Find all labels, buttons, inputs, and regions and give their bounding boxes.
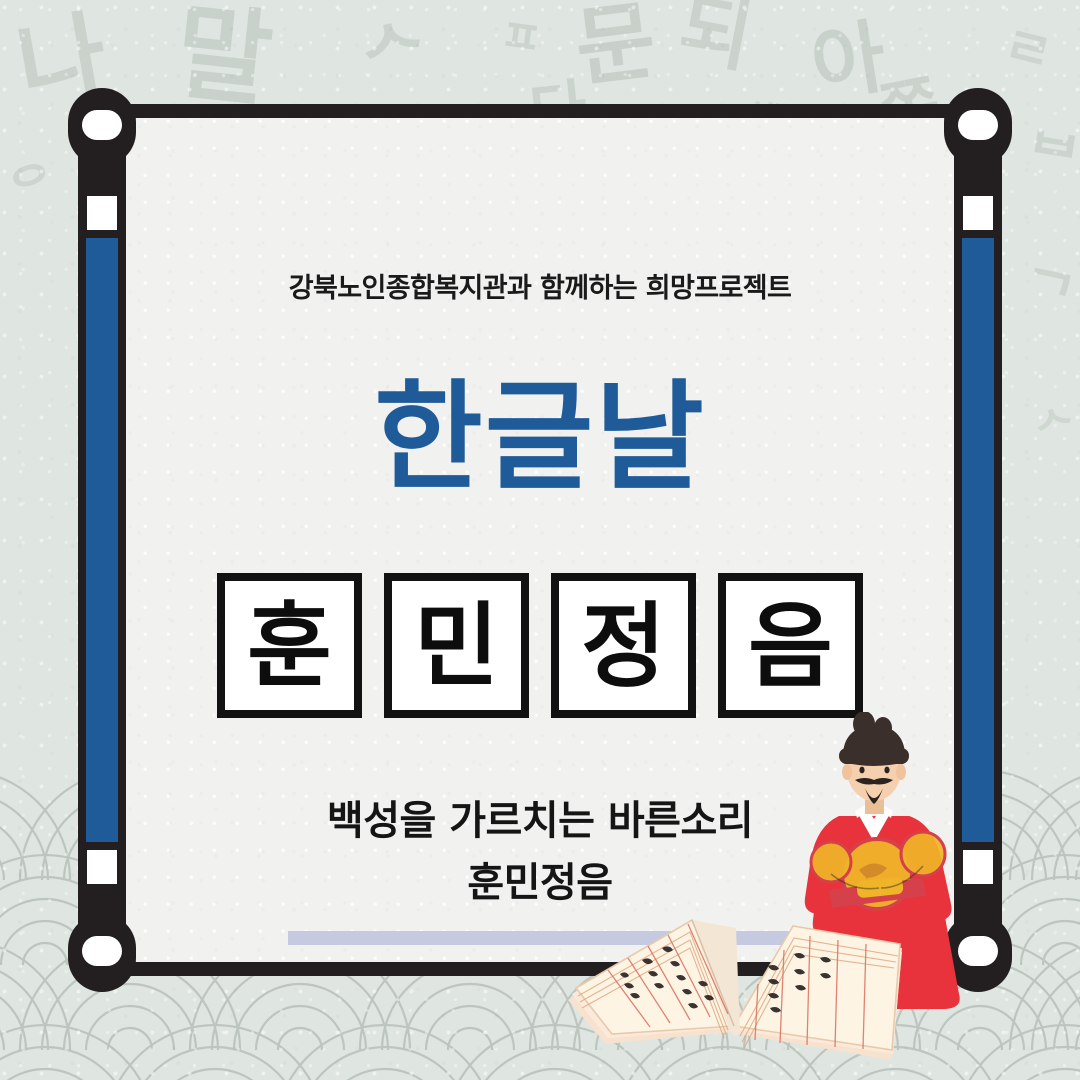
frame-rail-top <box>102 104 978 118</box>
background-glyph: ㅍ <box>497 11 545 62</box>
background-glyph: ㄹ <box>998 19 1057 81</box>
caption-line-1: 백성을 가르치는 바른소리 <box>327 798 753 844</box>
open-book-icon <box>562 892 907 1080</box>
boxed-characters: 훈민정음 <box>102 573 978 718</box>
background-glyph: 되 <box>673 0 758 78</box>
char-box-glyph: 훈 <box>247 600 332 692</box>
char-box-1: 훈 <box>217 573 362 718</box>
background-glyph: ᄉ <box>1031 403 1080 456</box>
char-box-glyph: 음 <box>748 600 833 692</box>
background-glyph: 문 <box>571 0 660 93</box>
char-box-2: 민 <box>384 573 529 718</box>
char-box-glyph: 민 <box>414 600 499 692</box>
background-glyph: ᄉ <box>354 13 436 99</box>
hangul-day-poster: 나말ᄉㅍ문되아ㄹ다세쫒ᄇᄋᄀᄉ <box>0 0 1080 1080</box>
page-title: 한글날 <box>102 373 978 503</box>
char-box-3: 정 <box>551 573 696 718</box>
char-box-4: 음 <box>718 573 863 718</box>
organization-line: 강북노인종합복지관과 함께하는 희망프로젝트 <box>102 266 978 305</box>
char-box-glyph: 정 <box>581 600 666 692</box>
